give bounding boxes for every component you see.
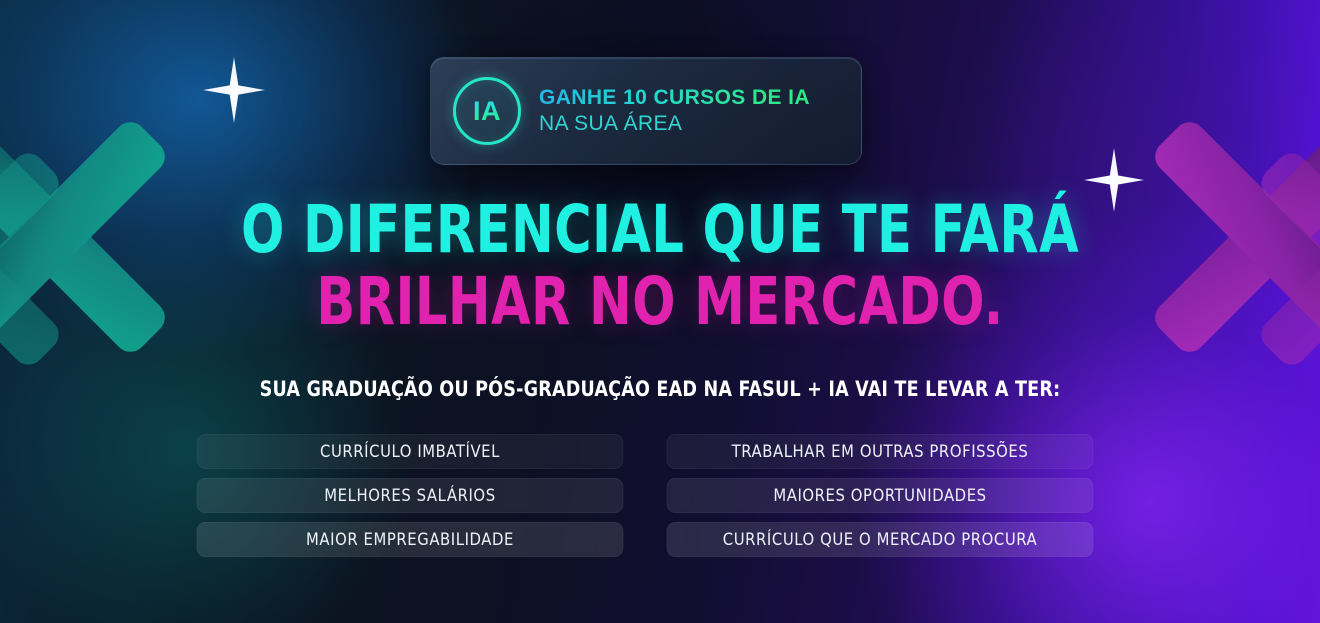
benefit-pill: MAIOR EMPREGABILIDADE [197, 522, 624, 557]
promo-banner: IA GANHE 10 CURSOS DE IA NA SUA ÁREA O D… [0, 0, 1320, 623]
badge-line-2: NA SUA ÁREA [539, 112, 810, 136]
subheadline: SUA GRADUAÇÃO OU PÓS-GRADUAÇÃO EAD NA FA… [46, 377, 1274, 401]
headline-line-2: BRILHAR NO MERCADO. [92, 268, 1227, 336]
benefit-pill: TRABALHAR EM OUTRAS PROFISSÕES [667, 434, 1094, 469]
benefit-pill: MELHORES SALÁRIOS [197, 478, 624, 513]
ia-icon-label: IA [473, 98, 501, 125]
headline-block: O DIFERENCIAL QUE TE FARÁ BRILHAR NO MER… [0, 196, 1320, 336]
headline-line-1: O DIFERENCIAL QUE TE FARÁ [92, 196, 1227, 264]
benefits-grid: CURRÍCULO IMBATÍVEL TRABALHAR EM OUTRAS … [190, 434, 1100, 557]
badge-line-1: GANHE 10 CURSOS DE IA [539, 86, 810, 110]
ia-circle-icon: IA [453, 77, 521, 145]
ai-courses-badge[interactable]: IA GANHE 10 CURSOS DE IA NA SUA ÁREA [430, 57, 862, 165]
benefit-pill: MAIORES OPORTUNIDADES [667, 478, 1094, 513]
benefit-pill: CURRÍCULO QUE O MERCADO PROCURA [667, 522, 1094, 557]
benefit-pill: CURRÍCULO IMBATÍVEL [197, 434, 624, 469]
